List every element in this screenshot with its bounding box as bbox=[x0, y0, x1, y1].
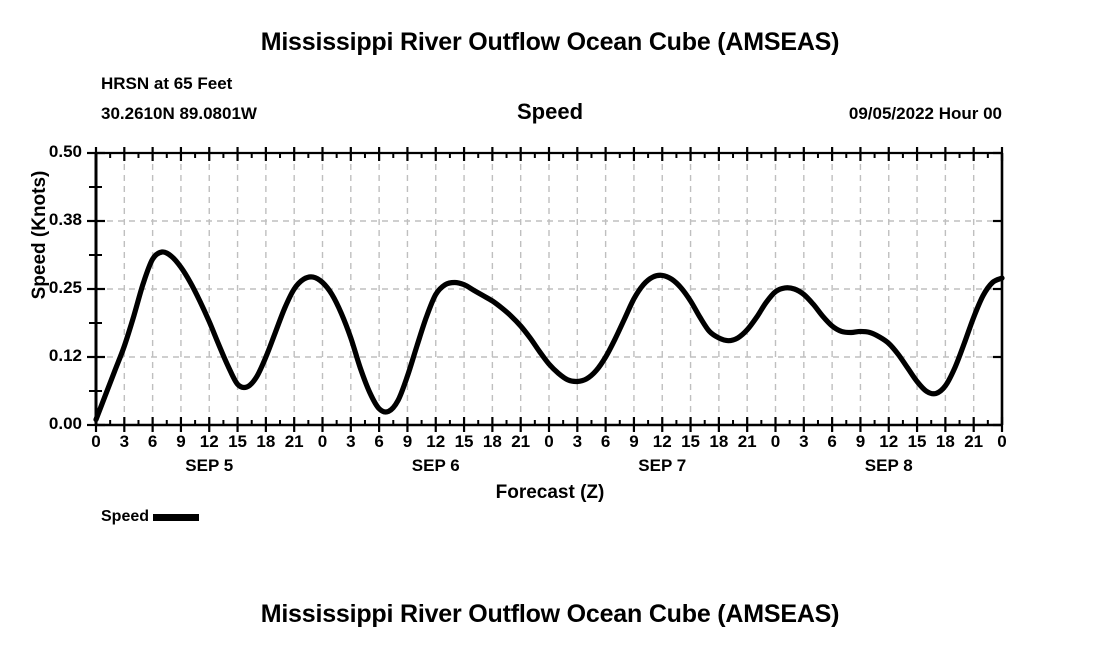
legend-label: Speed bbox=[101, 508, 149, 526]
x-axis-day-label: SEP 8 bbox=[829, 456, 949, 476]
y-axis-tick-label: 0.25 bbox=[20, 278, 82, 298]
x-axis-tick-label: 21 bbox=[732, 432, 762, 452]
x-axis-tick-label: 21 bbox=[279, 432, 309, 452]
x-axis-tick-label: 9 bbox=[392, 432, 422, 452]
footer-title: Mississippi River Outflow Ocean Cube (AM… bbox=[0, 600, 1100, 629]
x-axis-tick-label: 9 bbox=[845, 432, 875, 452]
y-axis-tick-label: 0.00 bbox=[20, 414, 82, 434]
x-axis-tick-label: 3 bbox=[336, 432, 366, 452]
x-axis-day-label: SEP 7 bbox=[602, 456, 722, 476]
x-axis-tick-label: 18 bbox=[930, 432, 960, 452]
x-axis-tick-label: 3 bbox=[562, 432, 592, 452]
x-axis-tick-label: 0 bbox=[81, 432, 111, 452]
x-axis-tick-label: 12 bbox=[647, 432, 677, 452]
y-axis-tick-label: 0.38 bbox=[20, 210, 82, 230]
x-axis-day-label: SEP 5 bbox=[149, 456, 269, 476]
x-axis-tick-label: 18 bbox=[251, 432, 281, 452]
x-axis-tick-label: 15 bbox=[902, 432, 932, 452]
x-axis-tick-label: 12 bbox=[194, 432, 224, 452]
y-axis-tick-label: 0.12 bbox=[20, 346, 82, 366]
x-axis-tick-label: 6 bbox=[817, 432, 847, 452]
x-axis-tick-label: 3 bbox=[109, 432, 139, 452]
x-axis-tick-label: 21 bbox=[959, 432, 989, 452]
x-axis-tick-label: 15 bbox=[449, 432, 479, 452]
x-axis-tick-label: 18 bbox=[704, 432, 734, 452]
x-axis-tick-label: 15 bbox=[223, 432, 253, 452]
x-axis-tick-label: 6 bbox=[591, 432, 621, 452]
x-axis-tick-label: 18 bbox=[477, 432, 507, 452]
x-axis-tick-label: 9 bbox=[619, 432, 649, 452]
x-axis-tick-label: 0 bbox=[534, 432, 564, 452]
x-axis-tick-label: 12 bbox=[874, 432, 904, 452]
x-axis-tick-label: 0 bbox=[761, 432, 791, 452]
x-axis-tick-label: 6 bbox=[364, 432, 394, 452]
x-axis-tick-label: 0 bbox=[987, 432, 1017, 452]
x-axis-tick-label: 21 bbox=[506, 432, 536, 452]
chart-page: Mississippi River Outflow Ocean Cube (AM… bbox=[0, 0, 1100, 650]
x-axis-tick-label: 9 bbox=[166, 432, 196, 452]
legend-line-swatch bbox=[153, 514, 199, 521]
legend: Speed bbox=[101, 508, 199, 526]
x-axis-tick-label: 3 bbox=[789, 432, 819, 452]
x-axis-title: Forecast (Z) bbox=[0, 482, 1100, 504]
y-axis-tick-label: 0.50 bbox=[20, 142, 82, 162]
x-axis-tick-label: 0 bbox=[308, 432, 338, 452]
x-axis-tick-label: 15 bbox=[676, 432, 706, 452]
x-axis-tick-label: 6 bbox=[138, 432, 168, 452]
x-axis-tick-label: 12 bbox=[421, 432, 451, 452]
x-axis-day-label: SEP 6 bbox=[376, 456, 496, 476]
